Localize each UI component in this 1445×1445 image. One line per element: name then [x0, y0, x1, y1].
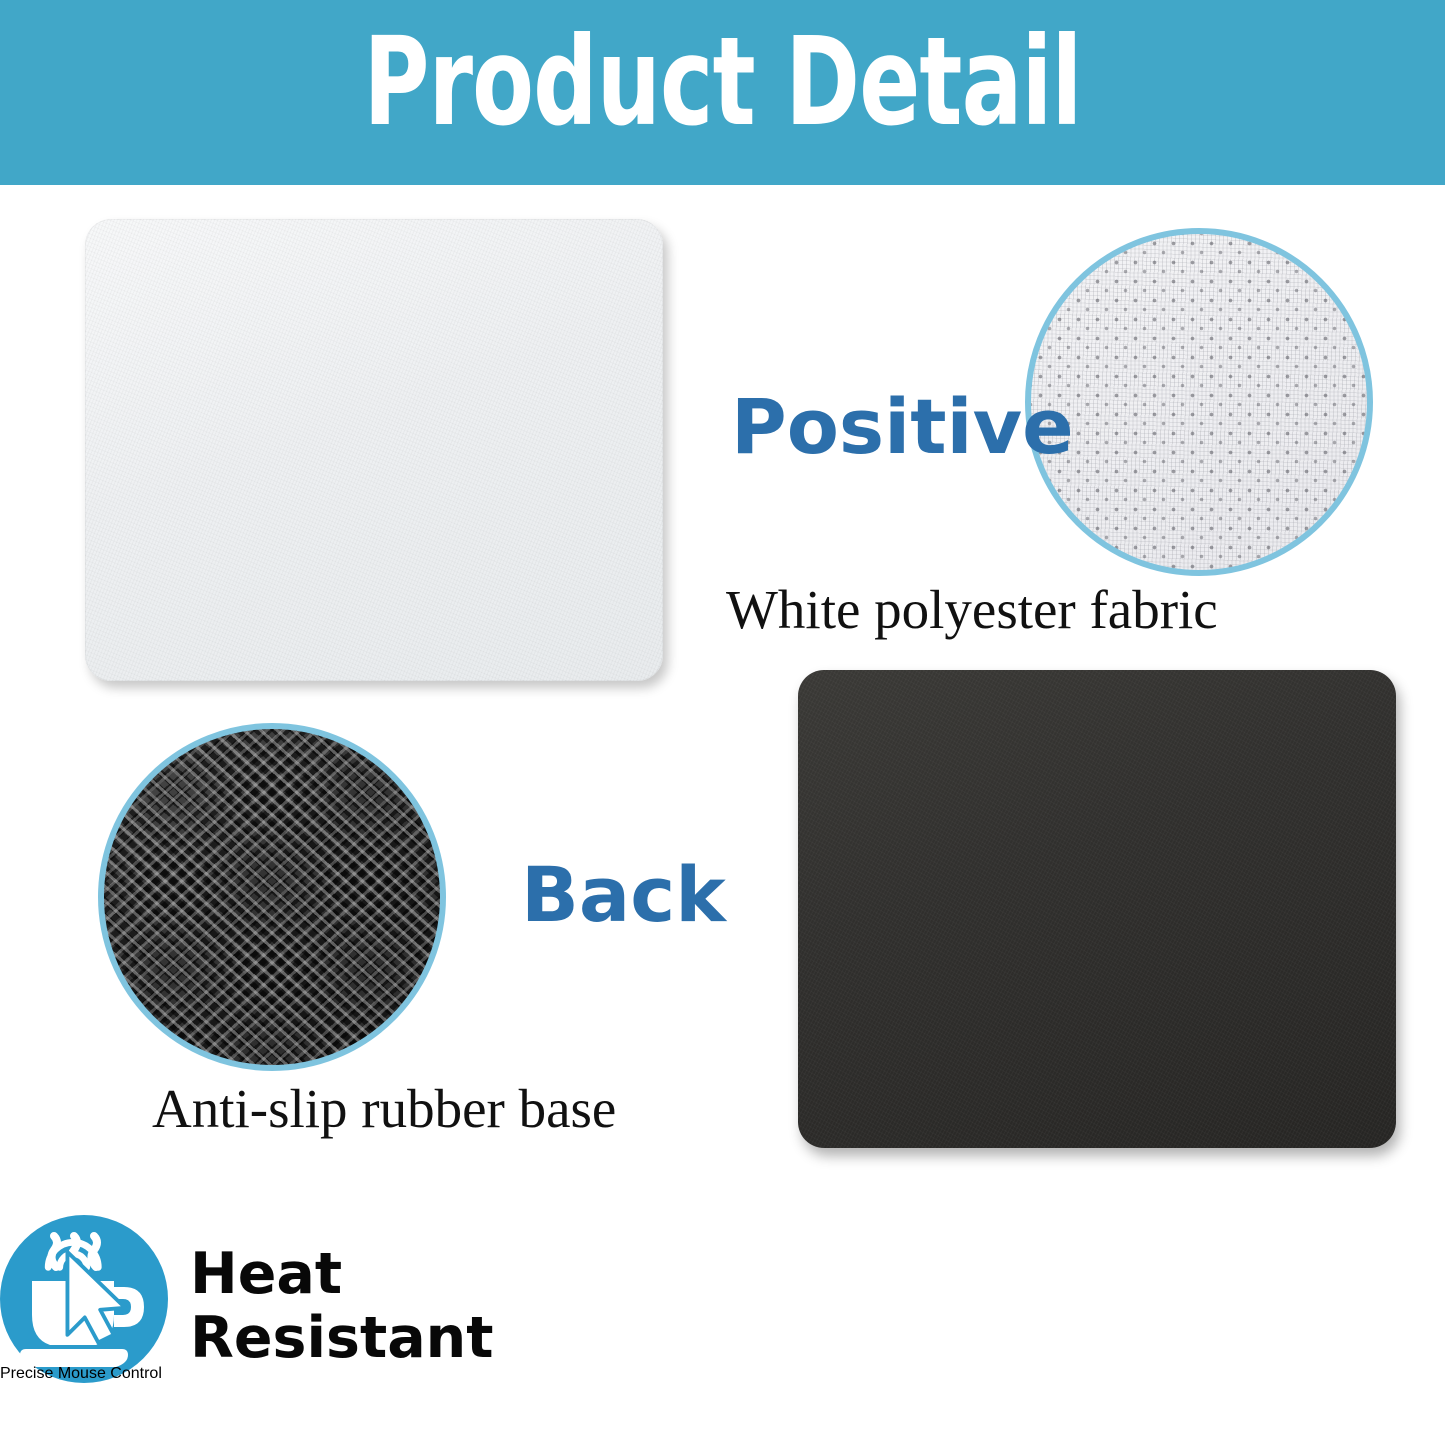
section-label-back: Back	[521, 852, 726, 938]
feature-row: Easy to Clean	[0, 1198, 1445, 1413]
feature-line: Precise	[0, 1365, 53, 1382]
section-label-positive: Positive	[731, 384, 1074, 470]
feature-label-precise-mouse-control: Precise Mouse Control	[0, 1365, 162, 1383]
page-title: Product Detail	[130, 18, 1315, 146]
cursor-click-icon	[0, 1198, 162, 1365]
white-polyester-fabric-swatch	[1025, 228, 1373, 576]
caption-anti-slip-rubber-base: Anti-slip rubber base	[152, 1078, 616, 1140]
anti-slip-rubber-swatch	[98, 723, 446, 1071]
caption-white-polyester-fabric: White polyester fabric	[726, 579, 1218, 641]
white-mousepad-front-image	[85, 219, 663, 681]
product-detail-infographic: Product Detail Positive White polyester …	[0, 0, 1445, 1445]
header-banner: Product Detail	[0, 0, 1445, 185]
feature-line: Mouse	[58, 1365, 106, 1382]
black-mousepad-back-image	[798, 670, 1396, 1148]
feature-precise-mouse-control: Precise Mouse Control	[0, 1198, 162, 1413]
feature-line: Control	[110, 1365, 162, 1382]
